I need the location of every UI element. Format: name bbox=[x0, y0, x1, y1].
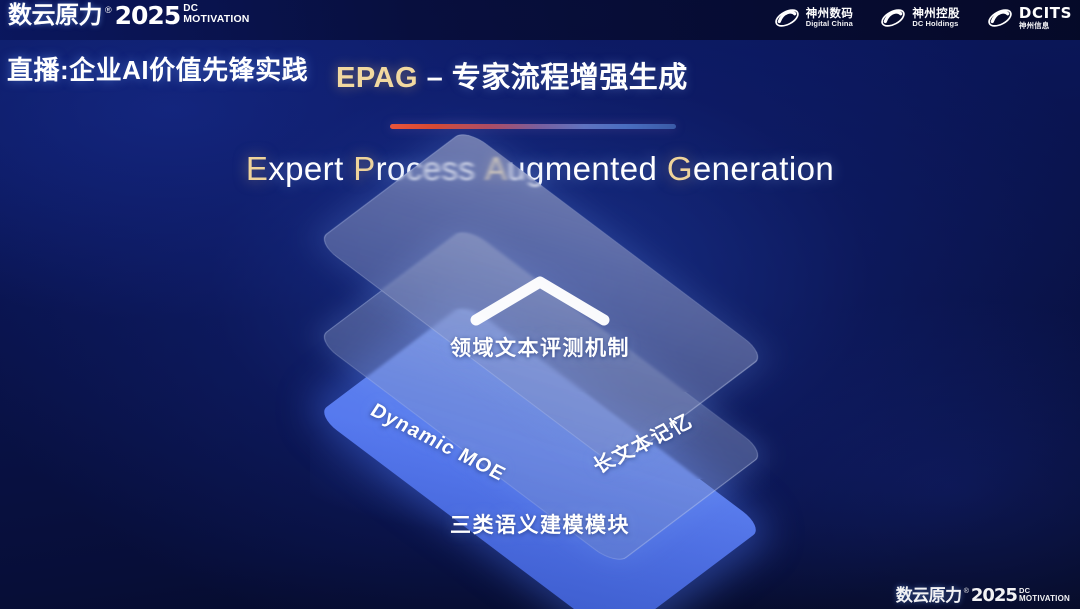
layered-architecture-diagram: 领域文本评测机制 Dynamic MOE 长文本记忆 三类语义建模模块 bbox=[0, 0, 1080, 609]
brand-logo-motivation: MOTIVATION bbox=[1019, 595, 1070, 603]
brand-logo-chinese: 数云原力 bbox=[896, 586, 962, 605]
diagram-bottom-layer-label: 三类语义建模模块 bbox=[0, 509, 1080, 539]
brand-registered-mark: ® bbox=[964, 588, 969, 596]
brand-logo-year: 2025 bbox=[971, 586, 1017, 605]
diagram-top-layer-label: 领域文本评测机制 bbox=[0, 332, 1080, 362]
brand-logo-dc-motivation: DC MOTIVATION bbox=[1019, 587, 1070, 603]
chevron-up-icon bbox=[466, 272, 614, 335]
brand-logo-bottom-right: 数云原力 ® 2025 DC MOTIVATION bbox=[896, 586, 1070, 605]
presentation-slide: 数云原力 ® 2025 DC MOTIVATION 直播:企业AI价值先锋实践 … bbox=[0, 0, 1080, 609]
